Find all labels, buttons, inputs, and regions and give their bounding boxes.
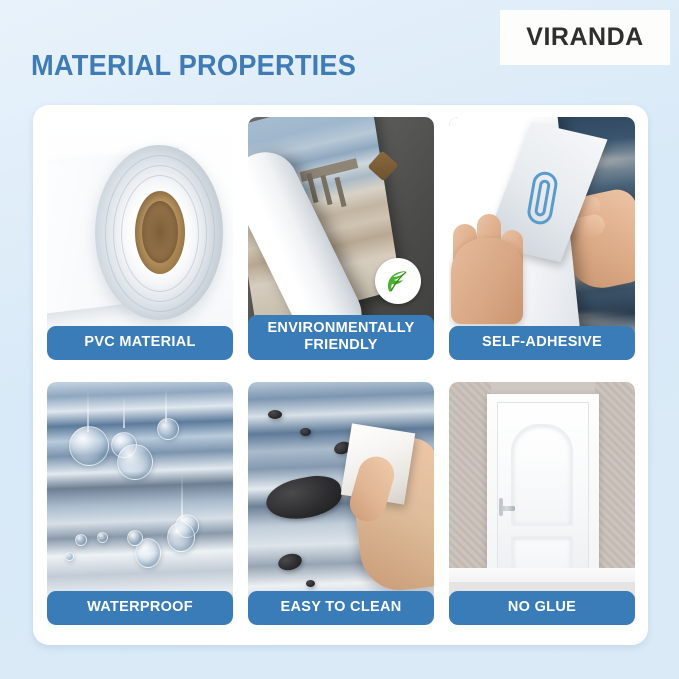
droplet-trail xyxy=(181,474,183,520)
card-label-no-glue: NO GLUE xyxy=(449,591,635,625)
easy-to-clean-photo xyxy=(248,382,434,625)
card-label-line1: ENVIRONMENTALLY xyxy=(248,320,434,337)
stain-spot xyxy=(306,580,315,587)
stain-spot xyxy=(268,410,282,419)
no-glue-photo xyxy=(449,382,635,625)
waterproof-photo xyxy=(47,382,233,625)
water-droplet xyxy=(157,418,179,440)
door-handle xyxy=(499,506,515,511)
page-title: MATERIAL PROPERTIES xyxy=(31,50,356,83)
pvc-roll-photo xyxy=(47,117,233,360)
water-droplet xyxy=(167,522,195,552)
brand-logo-box: VIRANDA xyxy=(500,10,670,65)
right-wall xyxy=(595,382,635,582)
leaf-icon xyxy=(384,267,412,295)
cardboard-core-hole xyxy=(142,201,178,263)
left-wall xyxy=(449,382,491,582)
card-label-line2: FRIENDLY xyxy=(248,337,434,354)
water-droplet xyxy=(127,530,143,546)
eco-badge xyxy=(375,258,421,304)
brand-name: VIRANDA xyxy=(526,23,643,52)
left-hand xyxy=(451,238,523,324)
card-label-pvc-material: PVC MATERIAL xyxy=(47,326,233,360)
infographic-page: VIRANDA MATERIAL PROPERTIES PVC MATERIAL xyxy=(0,0,679,679)
water-droplet xyxy=(75,534,87,546)
card-label-easy-to-clean: EASY TO CLEAN xyxy=(248,591,434,625)
feature-card-environmentally-friendly[interactable]: ENVIRONMENTALLY FRIENDLY xyxy=(248,117,434,360)
feature-card-no-glue[interactable]: NO GLUE xyxy=(449,382,635,625)
feature-card-grid: PVC MATERIAL ENVI xyxy=(47,117,635,633)
water-droplet xyxy=(69,426,109,466)
water-droplet xyxy=(97,532,108,543)
feature-card-easy-to-clean[interactable]: EASY TO CLEAN xyxy=(248,382,434,625)
card-label-environmentally-friendly: ENVIRONMENTALLY FRIENDLY xyxy=(248,315,434,360)
stain-spot xyxy=(300,428,311,436)
water-droplet xyxy=(117,444,153,480)
photo-background xyxy=(47,382,233,625)
droplet-trail xyxy=(123,396,125,428)
card-label-waterproof: WATERPROOF xyxy=(47,591,233,625)
feature-card-pvc-material[interactable]: PVC MATERIAL xyxy=(47,117,233,360)
card-label-self-adhesive: SELF-ADHESIVE xyxy=(449,326,635,360)
droplet-trail xyxy=(165,388,167,422)
door-panel-top xyxy=(511,424,573,526)
self-adhesive-photo xyxy=(449,117,635,360)
feature-card-waterproof[interactable]: WATERPROOF xyxy=(47,382,233,625)
water-droplet xyxy=(65,552,74,561)
feature-card-self-adhesive[interactable]: SELF-ADHESIVE xyxy=(449,117,635,360)
